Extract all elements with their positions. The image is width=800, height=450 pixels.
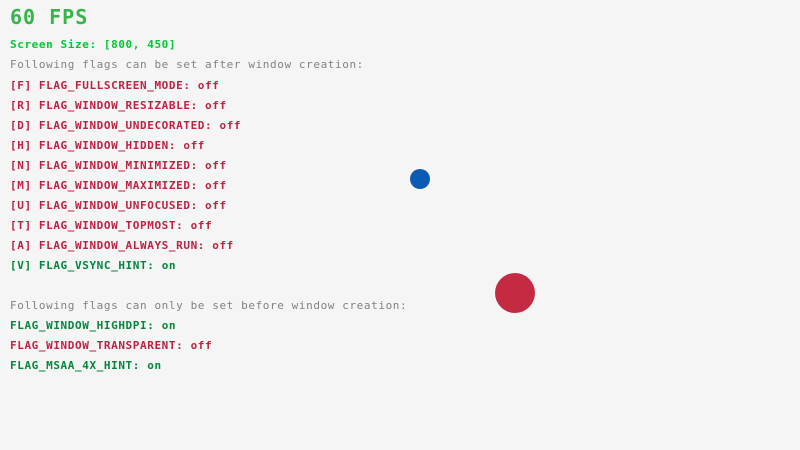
creation-flags-heading: Following flags can only be set before w… — [10, 299, 407, 313]
flag-key: [M] — [10, 179, 39, 192]
flag-key: [T] — [10, 219, 39, 232]
flag-row[interactable]: FLAG_WINDOW_HIGHDPI: on — [10, 319, 176, 333]
flag-name: FLAG_WINDOW_RESIZABLE: — [39, 99, 205, 112]
flag-name: FLAG_WINDOW_TRANSPARENT: — [10, 339, 191, 352]
flag-value: off — [205, 199, 227, 212]
flag-name: FLAG_WINDOW_MINIMIZED: — [39, 159, 205, 172]
flag-name: FLAG_WINDOW_HIGHDPI: — [10, 319, 162, 332]
raylib-window: 60 FPS Screen Size: [800, 450] Following… — [0, 0, 800, 450]
flag-name: FLAG_WINDOW_UNFOCUSED: — [39, 199, 205, 212]
flag-row[interactable]: [F] FLAG_FULLSCREEN_MODE: off — [10, 79, 219, 93]
flag-row[interactable]: [D] FLAG_WINDOW_UNDECORATED: off — [10, 119, 241, 133]
flag-name: FLAG_VSYNC_HINT: — [39, 259, 162, 272]
flag-value: off — [183, 139, 205, 152]
flag-value: off — [205, 99, 227, 112]
flag-key: [D] — [10, 119, 39, 132]
flag-value: on — [162, 259, 176, 272]
flag-name: FLAG_MSAA_4X_HINT: — [10, 359, 147, 372]
flag-key: [N] — [10, 159, 39, 172]
screen-size-label: Screen Size: [800, 450] — [10, 38, 176, 52]
flag-value: on — [147, 359, 161, 372]
flag-value: off — [205, 159, 227, 172]
flag-value: off — [205, 179, 227, 192]
flag-name: FLAG_WINDOW_TOPMOST: — [39, 219, 191, 232]
fps-counter: 60 FPS — [10, 4, 88, 30]
flag-row[interactable]: FLAG_WINDOW_TRANSPARENT: off — [10, 339, 212, 353]
flag-row[interactable]: [U] FLAG_WINDOW_UNFOCUSED: off — [10, 199, 227, 213]
flag-row[interactable]: FLAG_MSAA_4X_HINT: on — [10, 359, 162, 373]
flag-row[interactable]: [H] FLAG_WINDOW_HIDDEN: off — [10, 139, 205, 153]
flag-key: [A] — [10, 239, 39, 252]
ball-blue — [410, 169, 430, 189]
flag-key: [H] — [10, 139, 39, 152]
flag-row[interactable]: [N] FLAG_WINDOW_MINIMIZED: off — [10, 159, 227, 173]
runtime-flags-heading: Following flags can be set after window … — [10, 58, 364, 72]
flag-key: [U] — [10, 199, 39, 212]
flag-key: [F] — [10, 79, 39, 92]
flag-key: [R] — [10, 99, 39, 112]
ball-red — [495, 273, 535, 313]
flag-row[interactable]: [V] FLAG_VSYNC_HINT: on — [10, 259, 176, 273]
flag-name: FLAG_FULLSCREEN_MODE: — [39, 79, 198, 92]
flag-value: off — [191, 339, 213, 352]
flag-row[interactable]: [R] FLAG_WINDOW_RESIZABLE: off — [10, 99, 227, 113]
flag-row[interactable]: [T] FLAG_WINDOW_TOPMOST: off — [10, 219, 212, 233]
flag-value: off — [219, 119, 241, 132]
flag-name: FLAG_WINDOW_ALWAYS_RUN: — [39, 239, 212, 252]
flag-row[interactable]: [A] FLAG_WINDOW_ALWAYS_RUN: off — [10, 239, 234, 253]
flag-key: [V] — [10, 259, 39, 272]
flag-value: off — [212, 239, 234, 252]
flag-name: FLAG_WINDOW_HIDDEN: — [39, 139, 183, 152]
flag-name: FLAG_WINDOW_MAXIMIZED: — [39, 179, 205, 192]
flag-value: off — [198, 79, 220, 92]
flag-value: on — [162, 319, 176, 332]
flag-name: FLAG_WINDOW_UNDECORATED: — [39, 119, 220, 132]
flag-value: off — [191, 219, 213, 232]
flag-row[interactable]: [M] FLAG_WINDOW_MAXIMIZED: off — [10, 179, 227, 193]
